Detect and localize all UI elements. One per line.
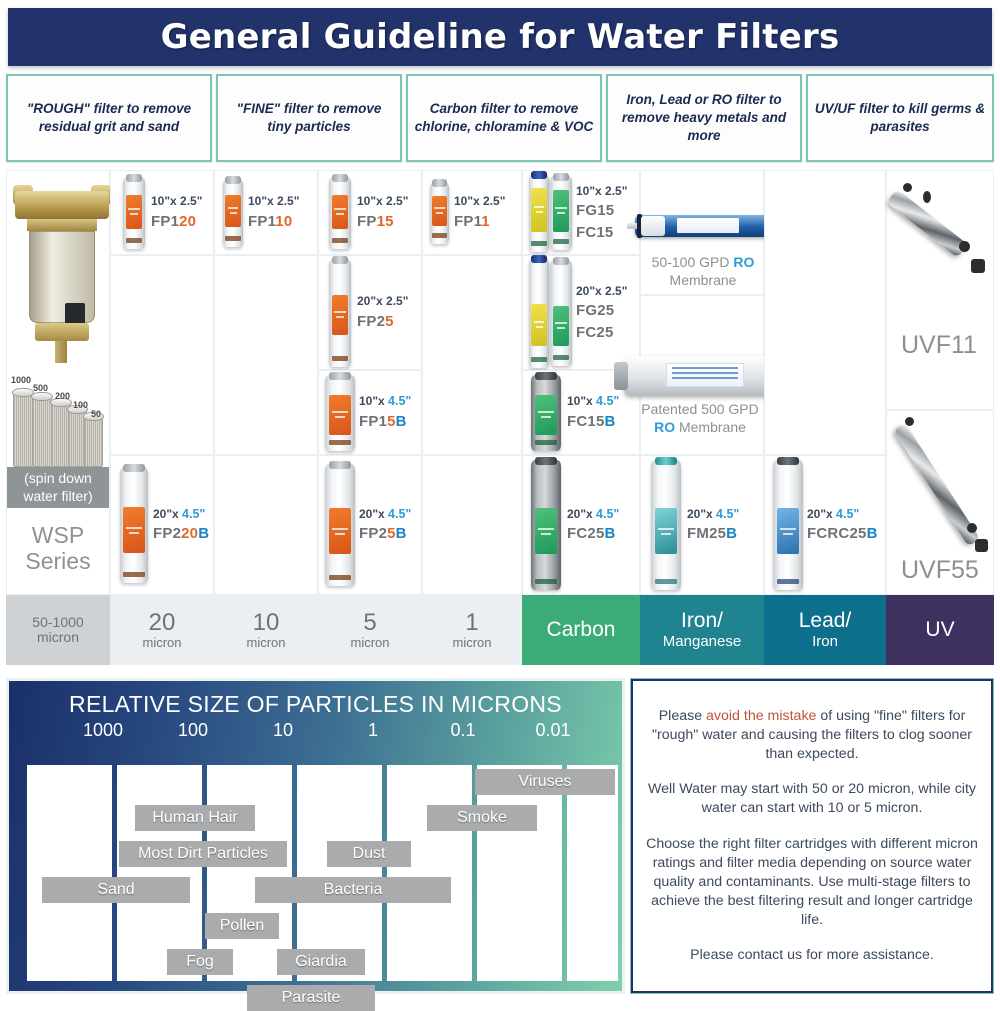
cartridge-fm25b-image xyxy=(651,460,681,590)
label-fp15b-code-pre: FP1 xyxy=(359,413,387,430)
label-fc15b-code-suf: B xyxy=(604,413,615,430)
particle-bar-bacteria: Bacteria xyxy=(255,877,451,903)
label-fcrc25b-code-mid: 25 xyxy=(849,525,866,542)
scale-tick-1: 1 xyxy=(368,720,378,741)
cell-fp15b: 10"x 4.5" FP15B xyxy=(318,370,422,455)
label-fcrc25b-code-suf: B xyxy=(867,525,878,542)
cartridge-fp25-image xyxy=(329,259,351,367)
particle-bar-smoke: Smoke xyxy=(427,805,537,831)
micron-cell-lead-value: Lead/ xyxy=(799,610,852,632)
wsp-micron-500: 500 xyxy=(33,383,48,393)
note-choose-right-cartridge: Choose the right filter cartridges with … xyxy=(643,835,981,930)
caption-row: "ROUGH" filter to remove residual grit a… xyxy=(6,74,994,162)
micron-cell-5-value: 5 xyxy=(363,610,376,635)
micron-cell-wsp-unit: micron xyxy=(37,629,79,645)
decade-column-7 xyxy=(567,765,618,981)
label-fp11-size: 10"x 2.5" xyxy=(454,194,505,208)
micron-cell-1: 1 micron xyxy=(422,595,522,665)
cell-uvf11: UVF11 xyxy=(886,170,994,410)
cartridge-fp15-image xyxy=(329,177,351,249)
caption-rough: "ROUGH" filter to remove residual grit a… xyxy=(6,74,212,162)
note-contact-us: Please contact us for more assistance. xyxy=(643,946,981,965)
micron-cell-lead-unit: Iron xyxy=(812,633,838,650)
cell-ro-big: Patented 500 GPD RO Membrane xyxy=(640,295,764,455)
label-fp15b-size-b: 4.5" xyxy=(388,394,411,408)
cell-blank-c4r2 xyxy=(422,255,522,455)
wsp-series-label: WSP Series xyxy=(7,523,109,575)
bottom-section: RELATIVE SIZE OF PARTICLES IN MICRONS 10… xyxy=(6,678,994,994)
label-fc25-code-mid: 25 xyxy=(596,324,613,341)
cartridge-fc25-image xyxy=(550,260,572,366)
cell-fm25b: 20"x 4.5" FM25B xyxy=(640,455,764,595)
label-fc25b-code-suf: B xyxy=(604,525,615,542)
micron-cell-iron-manganese: Iron/ Manganese xyxy=(640,595,764,665)
caption-iron-lead-ro: Iron, Lead or RO filter to remove heavy … xyxy=(606,74,802,162)
micron-cell-iron-value: Iron/ xyxy=(681,610,723,632)
label-fp25: 20"x 2.5" FP25 xyxy=(357,292,408,332)
caption-carbon: Carbon filter to remove chlorine, chlora… xyxy=(406,74,602,162)
particle-size-chart: RELATIVE SIZE OF PARTICLES IN MICRONS 10… xyxy=(6,678,625,994)
particle-chart-scale: 1000 100 10 1 0.1 0.01 xyxy=(13,720,618,746)
cartridge-fp25b-image xyxy=(325,464,355,586)
label-fc25b-code-pre: FC2 xyxy=(567,525,596,542)
decade-column-5 xyxy=(387,765,472,981)
label-fp25b: 20"x 4.5" FP25B xyxy=(359,505,411,545)
label-fp220b: 20"x 4.5" FP220B xyxy=(153,505,209,545)
particle-chart-title: RELATIVE SIZE OF PARTICLES IN MICRONS xyxy=(13,685,618,720)
page-title: General Guideline for Water Filters xyxy=(161,17,840,57)
label-fp120-size: 10"x 2.5" xyxy=(151,194,202,208)
caption-fine: "FINE" filter to remove tiny particles xyxy=(216,74,402,162)
label-fg25-fc25: 20"x 2.5" FG25 FC25 xyxy=(576,282,627,344)
label-fc15b-size-b: 4.5" xyxy=(596,394,619,408)
particle-bar-fog: Fog xyxy=(167,949,233,975)
label-fp11-code-mid: 1 xyxy=(481,213,490,230)
label-fp120: 10"x 2.5" FP120 xyxy=(151,192,202,232)
wsp-micron-50: 50 xyxy=(91,409,101,419)
particle-bar-viruses: Viruses xyxy=(475,769,615,795)
particle-bar-sand: Sand xyxy=(42,877,190,903)
label-fc25b-size-a: 20"x xyxy=(567,507,596,521)
label-fm25b-size-b: 4.5" xyxy=(716,507,739,521)
particle-bar-dust: Dust xyxy=(327,841,411,867)
label-fcrc25b-size-a: 20"x xyxy=(807,507,836,521)
label-fp25b-code-pre: FP2 xyxy=(359,525,387,542)
page-title-bar: General Guideline for Water Filters xyxy=(8,8,992,66)
micron-cell-5: 5 micron xyxy=(318,595,422,665)
micron-cell-10: 10 micron xyxy=(214,595,318,665)
label-fp25b-code-suf: B xyxy=(396,525,407,542)
note-avoid-mistake: Please avoid the mistake of using "fine"… xyxy=(643,707,981,764)
decade-column-1 xyxy=(27,765,112,981)
micron-cell-20: 20 micron xyxy=(110,595,214,665)
label-fp25-size: 20"x 2.5" xyxy=(357,294,408,308)
particle-bar-most-dirt-particles: Most Dirt Particles xyxy=(119,841,287,867)
micron-cell-1-unit: micron xyxy=(452,635,491,650)
micron-cell-uv-value: UV xyxy=(925,619,954,641)
wsp-overlay-label: (spin down water filter) xyxy=(7,467,109,508)
label-fp25b-size-a: 20"x xyxy=(359,507,388,521)
label-fp25b-code-mid: 5 xyxy=(387,525,396,542)
cell-fp25b: 20"x 4.5" FP25B xyxy=(318,455,422,595)
label-fp25-code-mid: 5 xyxy=(385,313,394,330)
cell-blank-c2r2 xyxy=(214,255,318,455)
label-fcrc25b-code-pre: FCRC xyxy=(807,525,849,542)
label-fcrc25b-size-b: 4.5" xyxy=(836,507,859,521)
label-fg15-fc15: 10"x 2.5" FG15 FC15 xyxy=(576,182,627,244)
label-fm25b-code-pre: FM xyxy=(687,525,709,542)
cartridge-fp120-image xyxy=(123,177,145,249)
label-fp120-code-pre: FP1 xyxy=(151,213,179,230)
label-fc25b-size-b: 4.5" xyxy=(596,507,619,521)
label-fc15-code: FC15 xyxy=(576,224,613,241)
label-fp220b-code-mid: 20 xyxy=(181,525,198,542)
label-fm25b-code-mid: 25 xyxy=(709,525,726,542)
scale-tick-0.1: 0.1 xyxy=(450,720,475,741)
label-ro-small-c: Membrane xyxy=(670,272,737,288)
particle-bar-giardia: Giardia xyxy=(277,949,365,975)
label-ro-small-b: RO xyxy=(733,254,754,270)
label-fp220b-size-b: 4.5" xyxy=(182,507,205,521)
particle-chart-plot: Viruses Smoke Human Hair Most Dirt Parti… xyxy=(27,765,612,981)
cell-fp120: 10"x 2.5" FP120 xyxy=(110,170,214,255)
label-fp220b-size-a: 20"x xyxy=(153,507,182,521)
scale-tick-100: 100 xyxy=(178,720,208,741)
label-fp15b-code-suf: B xyxy=(396,413,407,430)
particle-bar-pollen: Pollen xyxy=(205,913,279,939)
note-well-water: Well Water may start with 50 or 20 micro… xyxy=(643,780,981,818)
cartridge-fp110-image xyxy=(223,179,243,247)
micron-cell-wsp-value: 50-1000 xyxy=(32,615,83,630)
cell-uvf55: UVF55 xyxy=(886,410,994,595)
label-uvf11: UVF11 xyxy=(901,331,977,360)
uvf11-image xyxy=(887,171,993,409)
particle-bar-human-hair: Human Hair xyxy=(135,805,255,831)
cartridge-fg15-image xyxy=(529,174,549,252)
micron-cell-lead-iron: Lead/ Iron xyxy=(764,595,886,665)
label-ro-small-a: 50-100 GPD xyxy=(652,254,734,270)
label-fg15-code: FG15 xyxy=(576,202,614,219)
label-fc15b-code-pre: FC1 xyxy=(567,413,596,430)
label-fp110-size: 10"x 2.5" xyxy=(248,194,299,208)
label-fp110-code-mid: 10 xyxy=(275,213,292,230)
cartridge-fp11-image xyxy=(430,182,449,244)
scale-tick-1000: 1000 xyxy=(83,720,123,741)
label-fp15-code-mid: 15 xyxy=(377,213,394,230)
label-fp220b-code-suf: B xyxy=(198,525,209,542)
label-fg15-size: 10"x 2.5" xyxy=(576,184,627,198)
label-fp25-code-pre: FP2 xyxy=(357,313,385,330)
label-ro-big-b: RO xyxy=(654,419,675,435)
wsp-micron-100: 100 xyxy=(73,400,88,410)
label-fp15b-size-a: 10"x xyxy=(359,394,388,408)
micron-cell-10-value: 10 xyxy=(253,610,280,635)
cartridge-fcrc25b-image xyxy=(773,460,803,590)
scale-tick-0.01: 0.01 xyxy=(535,720,570,741)
cell-fp110: 10"x 2.5" FP110 xyxy=(214,170,318,255)
label-fp25b-size-b: 4.5" xyxy=(388,507,411,521)
label-fp220b-code-pre: FP2 xyxy=(153,525,181,542)
cartridge-fp15b-image xyxy=(325,375,355,451)
micron-cell-carbon: Carbon xyxy=(522,595,640,665)
cell-fp25: 20"x 2.5" FP25 xyxy=(318,255,422,370)
label-fp11: 10"x 2.5" FP11 xyxy=(454,192,505,232)
label-fp15-code-pre: FP xyxy=(357,213,377,230)
cartridge-fg25-image xyxy=(529,258,549,368)
label-fp110-code-pre: FP1 xyxy=(248,213,275,230)
label-fg25-code-mid: 25 xyxy=(597,302,614,319)
micron-cell-uv: UV xyxy=(886,595,994,665)
label-ro-big-a: Patented 500 GPD xyxy=(641,401,759,417)
spin-down-screens-image: 1000 500 200 100 50 xyxy=(11,371,107,467)
label-fm25b-code-suf: B xyxy=(726,525,737,542)
label-fp15b: 10"x 4.5" FP15B xyxy=(359,392,411,432)
label-fg25-size: 20"x 2.5" xyxy=(576,284,627,298)
note-0-warn: avoid the mistake xyxy=(706,708,816,724)
cell-blank-c1r2 xyxy=(110,255,214,455)
infographic-root: General Guideline for Water Filters "ROU… xyxy=(0,0,1000,1000)
micron-cell-1-value: 1 xyxy=(465,610,478,635)
label-fp11-code-pre: FP1 xyxy=(454,213,481,230)
label-uvf55: UVF55 xyxy=(901,556,979,585)
caption-uv-uf: UV/UF filter to kill germs & parasites xyxy=(806,74,994,162)
cartridge-fc25b-image xyxy=(531,460,561,590)
notes-panel: Please avoid the mistake of using "fine"… xyxy=(630,678,994,994)
wsp-micron-1000: 1000 xyxy=(11,375,31,385)
micron-footer-row: 50-1000 micron 20 micron 10 micron 5 mic… xyxy=(6,595,994,665)
cell-blank-c7r1 xyxy=(764,170,886,455)
ro-membrane-small-image xyxy=(627,213,777,239)
micron-cell-carbon-value: Carbon xyxy=(547,619,616,641)
label-fc15b: 10"x 4.5" FC15B xyxy=(567,392,619,432)
label-fc25b: 20"x 4.5" FC25B xyxy=(567,505,619,545)
decade-column-6 xyxy=(477,765,562,981)
cartridge-fp220b-image xyxy=(120,467,148,583)
label-fp120-code-mid: 20 xyxy=(179,213,196,230)
label-ro-big: Patented 500 GPD RO Membrane xyxy=(627,400,773,436)
micron-cell-wsp: 50-1000 micron xyxy=(6,595,110,665)
wsp-micron-200: 200 xyxy=(55,391,70,401)
micron-cell-10-unit: micron xyxy=(246,635,285,650)
cell-fcrc25b: 20"x 4.5" FCRC25B xyxy=(764,455,886,595)
cell-wsp: 1000 500 200 100 50 (spin down water fil… xyxy=(6,170,110,595)
cell-blank-c2r4 xyxy=(214,455,318,595)
label-fm25b: 20"x 4.5" FM25B xyxy=(687,505,739,545)
micron-cell-5-unit: micron xyxy=(350,635,389,650)
label-fp15: 10"x 2.5" FP15 xyxy=(357,192,408,232)
cell-fg25-fc25: 20"x 2.5" FG25 FC25 xyxy=(522,255,640,370)
label-fc25-code-pre: FC xyxy=(576,324,596,341)
cell-fp11: 10"x 2.5" FP11 xyxy=(422,170,522,255)
micron-cell-iron-unit: Manganese xyxy=(663,633,741,650)
label-fg25-code-pre: FG xyxy=(576,302,597,319)
scale-tick-10: 10 xyxy=(273,720,293,741)
cell-blank-c4r4 xyxy=(422,455,522,595)
cell-fp220b: 20"x 4.5" FP220B xyxy=(110,455,214,595)
micron-cell-20-unit: micron xyxy=(142,635,181,650)
spin-down-housing-image xyxy=(7,175,117,365)
label-fp15-size: 10"x 2.5" xyxy=(357,194,408,208)
label-fc15b-size-a: 10"x xyxy=(567,394,596,408)
label-ro-small: 50-100 GPD RO Membrane xyxy=(625,253,781,289)
cell-fp15: 10"x 2.5" FP15 xyxy=(318,170,422,255)
micron-cell-20-value: 20 xyxy=(149,610,176,635)
label-fp110: 10"x 2.5" FP110 xyxy=(248,192,299,232)
cartridge-fc15-image xyxy=(550,176,572,250)
label-ro-big-c: Membrane xyxy=(675,419,746,435)
cartridge-fc15b-image xyxy=(531,375,561,451)
cell-fc25b: 20"x 4.5" FC25B xyxy=(522,455,640,595)
filter-grid: 1000 500 200 100 50 (spin down water fil… xyxy=(6,170,994,595)
label-fm25b-size-a: 20"x xyxy=(687,507,716,521)
label-fp15b-code-mid: 5 xyxy=(387,413,396,430)
label-fcrc25b: 20"x 4.5" FCRC25B xyxy=(807,505,878,545)
cell-ro-small: 50-100 GPD RO Membrane xyxy=(640,170,764,295)
note-0-pre: Please xyxy=(659,708,706,724)
particle-bar-parasite: Parasite xyxy=(247,985,375,1011)
cell-fg15-fc15: 10"x 2.5" FG15 FC15 xyxy=(522,170,640,255)
